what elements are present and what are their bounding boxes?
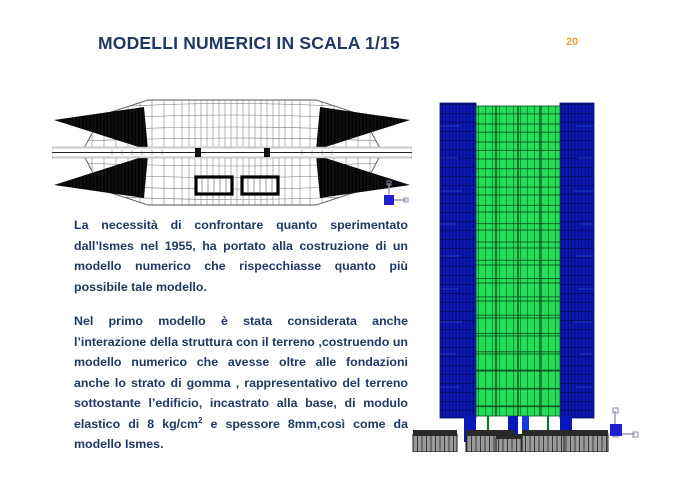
paragraph-2-main: Nel primo modello è stata considerata an… — [74, 314, 408, 431]
axis-triad-icon-plan — [378, 178, 412, 208]
axis-triad-icon-building — [604, 404, 640, 442]
plan-view-fem-mesh — [52, 95, 412, 210]
building-side-face-left — [440, 103, 476, 418]
slide-canvas: MODELLI NUMERICI IN SCALA 1/15 20 — [0, 0, 700, 496]
page-number: 20 — [566, 36, 578, 48]
building-front-face — [476, 106, 560, 416]
mesh-center-band — [52, 147, 412, 158]
paragraph-2: Nel primo modello è stata considerata an… — [74, 311, 408, 455]
paragraph-1: La necessità di confrontare quanto speri… — [74, 215, 408, 297]
building-foundation-blocks — [413, 430, 608, 452]
elevation-fem-building-model — [408, 96, 613, 452]
page-title: MODELLI NUMERICI IN SCALA 1/15 — [98, 33, 400, 54]
building-side-face-right — [560, 103, 594, 418]
body-text-block: La necessità di confrontare quanto speri… — [74, 215, 408, 455]
